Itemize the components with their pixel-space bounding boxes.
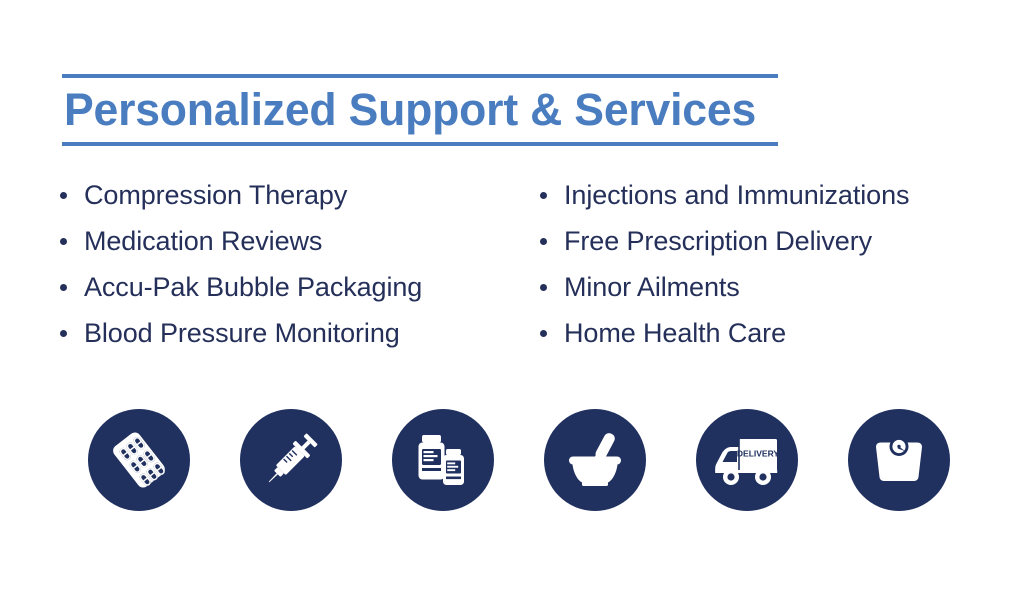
list-item-label: Compression Therapy [84,180,347,210]
page-title: Personalized Support & Services [62,78,771,142]
list-item: Minor Ailments [538,270,909,304]
bullet-icon [60,238,67,245]
bullet-icon [540,238,547,245]
list-item: Compression Therapy [58,178,422,212]
list-item: Free Prescription Delivery [538,224,909,258]
services-lists: Compression Therapy Medication Reviews A… [0,178,1025,363]
icon-badge-weight-scale [848,409,950,511]
truck-delivery-text: DELIVERY [737,449,780,459]
list-item-label: Minor Ailments [564,272,740,302]
services-column-right: Injections and Immunizations Free Prescr… [538,178,909,362]
list-item: Medication Reviews [58,224,422,258]
mortar-and-pestle-icon [560,425,630,495]
bullet-icon [60,192,67,199]
list-item: Home Health Care [538,316,909,350]
icon-badge-pill-bottles [392,409,494,511]
icon-badge-mortar-pestle [544,409,646,511]
bullet-icon [60,284,67,291]
list-item: Injections and Immunizations [538,178,909,212]
services-infographic: Personalized Support & Services Compress… [0,0,1025,590]
list-item-label: Injections and Immunizations [564,180,909,210]
services-column-left: Compression Therapy Medication Reviews A… [58,178,422,362]
syringe-icon [256,425,326,495]
service-list-left: Compression Therapy Medication Reviews A… [58,178,422,350]
title-rule-bottom [62,142,778,146]
list-item-label: Home Health Care [564,318,786,348]
icon-badge-syringe [240,409,342,511]
service-list-right: Injections and Immunizations Free Prescr… [538,178,909,350]
title-block: Personalized Support & Services [62,74,778,146]
weight-scale-icon [866,427,932,493]
icon-row: DELIVERY [88,409,961,511]
pill-bottles-icon [410,427,476,493]
bullet-icon [540,284,547,291]
icon-badge-blister-pack [88,409,190,511]
list-item-label: Free Prescription Delivery [564,226,872,256]
list-item: Accu-Pak Bubble Packaging [58,270,422,304]
bullet-icon [540,192,547,199]
list-item-label: Blood Pressure Monitoring [84,318,400,348]
bullet-icon [540,330,547,337]
list-item-label: Medication Reviews [84,226,322,256]
list-item-label: Accu-Pak Bubble Packaging [84,272,422,302]
bullet-icon [60,330,67,337]
blister-pack-icon [104,425,174,495]
icon-badge-delivery-truck: DELIVERY [696,409,798,511]
list-item: Blood Pressure Monitoring [58,316,422,350]
delivery-truck-icon: DELIVERY [709,427,785,493]
